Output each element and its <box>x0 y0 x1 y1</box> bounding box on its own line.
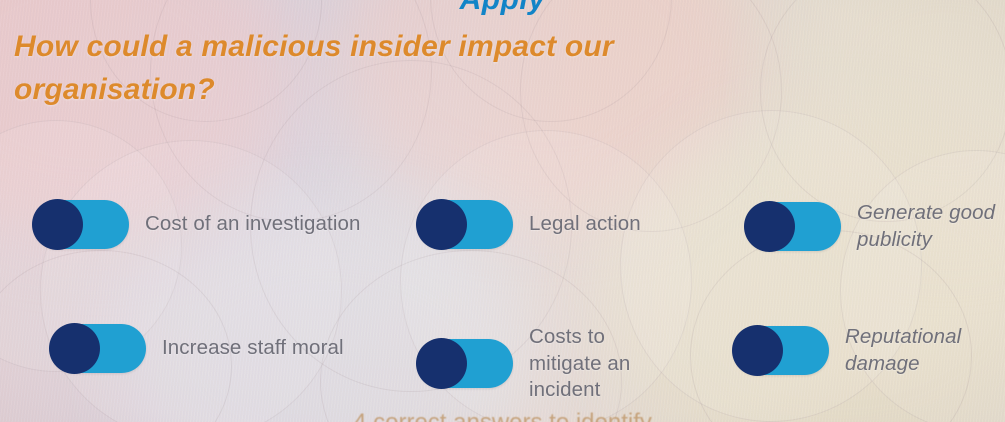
options-row-2: Increase staff moral Costs to mitigate a… <box>0 306 1005 422</box>
option-reputational-damage[interactable]: Reputational damage <box>733 324 1005 377</box>
toggle-pill-icon[interactable] <box>417 339 513 388</box>
clipped-bottom-text: 4 correct answers to identify <box>0 409 1005 422</box>
option-label: Cost of an investigation <box>145 211 361 238</box>
option-legal-action[interactable]: Legal action <box>417 200 641 249</box>
options-row-1: Cost of an investigation Legal action Ge… <box>0 182 1005 306</box>
toggle-pill-icon[interactable] <box>745 202 841 251</box>
option-label: Increase staff moral <box>162 335 344 362</box>
option-label: Generate good publicity <box>857 200 1005 253</box>
question-title: How could a malicious insider impact our… <box>14 26 814 111</box>
toggle-pill-icon[interactable] <box>417 200 513 249</box>
clipped-top-text: Apply <box>0 0 1005 17</box>
option-label: Legal action <box>529 211 641 238</box>
option-cost-of-an-investigation[interactable]: Cost of an investigation <box>33 200 361 249</box>
option-costs-to-mitigate-an-incident[interactable]: Costs to mitigate an incident <box>417 324 641 404</box>
option-label: Reputational damage <box>845 324 1005 377</box>
toggle-pill-icon[interactable] <box>733 326 829 375</box>
toggle-pill-icon[interactable] <box>33 200 129 249</box>
quiz-screen: Apply How could a malicious insider impa… <box>0 0 1005 422</box>
option-generate-good-publicity[interactable]: Generate good publicity <box>745 200 1005 253</box>
answer-options-grid: Cost of an investigation Legal action Ge… <box>0 182 1005 422</box>
option-label: Costs to mitigate an incident <box>529 324 641 404</box>
toggle-pill-icon[interactable] <box>50 324 146 373</box>
option-increase-staff-moral[interactable]: Increase staff moral <box>50 324 344 373</box>
